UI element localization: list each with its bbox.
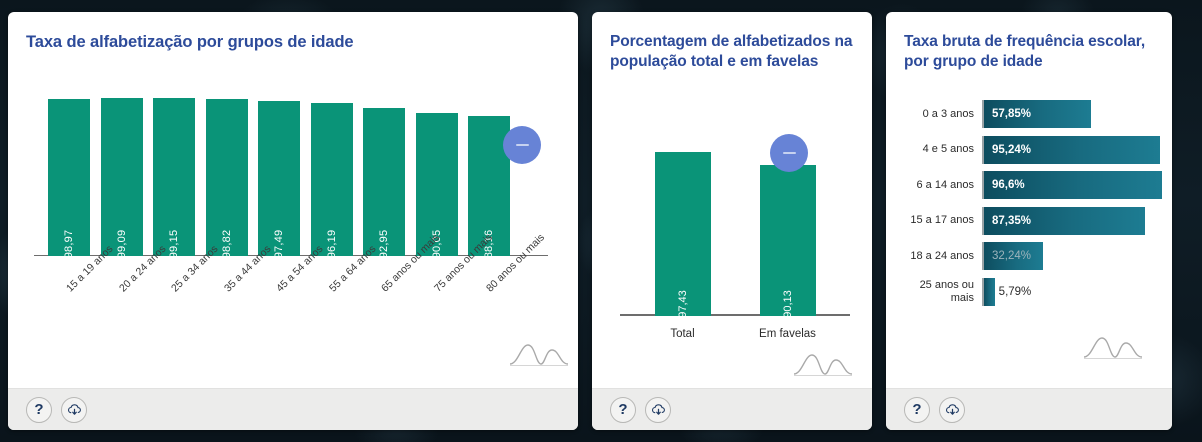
chart1-bar-5[interactable]: 96,19	[311, 103, 353, 256]
chart3-row-5[interactable]: 25 anos ou mais 5,79%	[894, 278, 1162, 306]
chart3-bar-5[interactable]	[984, 278, 995, 306]
chart1-bar-slot[interactable]: 99,15	[153, 82, 195, 256]
chart3-bar-3[interactable]: 87,35%	[984, 207, 1145, 235]
chart1-tick-8: 80 anos ou mais	[468, 282, 510, 352]
card-body-literacy-total-favelas: Porcentagem de alfabetizados na populaçã…	[592, 12, 872, 388]
chart1-tick-4: 45 a 54 anos	[258, 282, 300, 352]
download-button[interactable]	[645, 397, 671, 423]
chart1-value-4: 97,49	[273, 230, 285, 259]
distribution-curve-watermark	[792, 349, 854, 379]
chart3-track-2: 96,6%	[982, 171, 1162, 199]
minimize-badge[interactable]	[770, 134, 808, 172]
chart-literacy-by-age: 98,97 99,09 99,15	[34, 82, 548, 282]
chart1-bar-slot[interactable]: 98,97	[48, 82, 90, 256]
cloud-download-icon	[651, 403, 666, 417]
chart-school-attendance-rate: 0 a 3 anos 57,85% 4 e 5 anos 95,24%	[894, 100, 1162, 315]
chart3-bar-1[interactable]: 95,24%	[984, 136, 1160, 164]
question-mark-icon: ?	[912, 402, 921, 417]
distribution-curve-watermark	[508, 339, 570, 369]
chart1-bar-slot[interactable]: 92,95	[363, 82, 405, 256]
question-mark-icon: ?	[618, 402, 627, 417]
chart3-bar-0[interactable]: 57,85%	[984, 100, 1091, 128]
chart1-value-0: 98,97	[63, 230, 75, 259]
cloud-download-icon	[945, 403, 960, 417]
chart1-bar-2[interactable]: 99,15	[153, 98, 195, 256]
distribution-curve-watermark	[1082, 332, 1144, 362]
chart3-row-4[interactable]: 18 a 24 anos 32,24%	[894, 242, 1162, 270]
chart2-plot-area: 97,43 90,13	[630, 130, 840, 316]
chart1-bar-slot[interactable]: 97,49	[258, 82, 300, 256]
chart1-tick-7: 75 anos ou mais	[416, 282, 458, 352]
dashboard-board: Taxa de alfabetização por grupos de idad…	[0, 0, 1202, 442]
chart1-value-3: 98,82	[221, 230, 233, 259]
chart1-tick-2: 25 a 34 anos	[153, 282, 195, 352]
chart2-category-axis: Total Em favelas	[630, 328, 840, 340]
chart1-bar-6[interactable]: 92,95	[363, 108, 405, 256]
chart3-track-3: 87,35%	[982, 207, 1162, 235]
chart3-row-1[interactable]: 4 e 5 anos 95,24%	[894, 136, 1162, 164]
chart1-plot-area: 98,97 99,09 99,15	[48, 82, 510, 256]
chart3-category-label-2: 6 a 14 anos	[894, 179, 982, 192]
card-school-attendance-rate: Taxa bruta de frequência escolar, por gr…	[886, 12, 1172, 430]
card-literacy-by-age: Taxa de alfabetização por grupos de idad…	[8, 12, 578, 430]
chart3-value-4: 32,24%	[984, 250, 1031, 262]
chart1-category-axis: 15 a 19 anos 20 a 24 anos 25 a 34 anos 3…	[48, 282, 510, 352]
chart1-bar-1[interactable]: 99,09	[101, 98, 143, 256]
chart1-value-2: 99,15	[168, 230, 180, 259]
chart1-value-5: 96,19	[326, 230, 338, 259]
chart3-value-1: 95,24%	[984, 144, 1031, 156]
chart2-value-total: 97,43	[677, 290, 689, 318]
card-footer-school-attendance-rate: ?	[886, 388, 1172, 430]
chart3-track-0: 57,85%	[982, 100, 1162, 128]
chart-literacy-total-favelas: 97,43 90,13 Total Em favelas	[620, 130, 850, 350]
card-footer-literacy-total-favelas: ?	[592, 388, 872, 430]
download-button[interactable]	[939, 397, 965, 423]
chart3-row-2[interactable]: 6 a 14 anos 96,6%	[894, 171, 1162, 199]
chart1-value-6: 92,95	[378, 230, 390, 259]
chart3-value-3: 87,35%	[984, 215, 1031, 227]
chart1-bar-slot[interactable]: 98,82	[206, 82, 248, 256]
chart3-track-5: 5,79%	[982, 278, 1162, 306]
chart3-row-3[interactable]: 15 a 17 anos 87,35%	[894, 207, 1162, 235]
page-title: Taxa de alfabetização por grupos de idad…	[26, 32, 560, 54]
chart1-bar-slot[interactable]: 88,16	[468, 82, 510, 256]
download-button[interactable]	[61, 397, 87, 423]
chart3-row-0[interactable]: 0 a 3 anos 57,85%	[894, 100, 1162, 128]
chart3-track-1: 95,24%	[982, 136, 1162, 164]
chart1-value-1: 99,09	[116, 230, 128, 259]
help-button[interactable]: ?	[610, 397, 636, 423]
card-footer-literacy-by-age: ?	[8, 388, 578, 430]
chart3-value-2: 96,6%	[984, 179, 1025, 191]
chart1-tick-3: 35 a 44 anos	[206, 282, 248, 352]
help-button[interactable]: ?	[904, 397, 930, 423]
chart1-bar-3[interactable]: 98,82	[206, 99, 248, 256]
chart1-bar-slot[interactable]: 90,05	[416, 82, 458, 256]
chart2-tick-label-favelas: Em favelas	[743, 328, 833, 340]
chart2-bar-favelas[interactable]: 90,13	[760, 165, 816, 316]
chart3-track-4: 32,24%	[982, 242, 1162, 270]
chart3-value-5: 5,79%	[995, 286, 1032, 298]
chart1-tick-6: 65 anos ou mais	[363, 282, 405, 352]
chart1-tick-1: 20 a 24 anos	[101, 282, 143, 352]
chart2-value-favelas: 90,13	[782, 290, 794, 318]
chart1-tick-5: 55 a 64 anos	[311, 282, 353, 352]
chart1-tick-0: 15 a 19 anos	[48, 282, 90, 352]
chart2-tick-label-total: Total	[638, 328, 728, 340]
chart3-category-label-5: 25 anos ou mais	[894, 279, 982, 304]
chart3-value-0: 57,85%	[984, 108, 1031, 120]
chart3-category-label-4: 18 a 24 anos	[894, 250, 982, 263]
chart1-bar-slot[interactable]: 96,19	[311, 82, 353, 256]
card-body-school-attendance-rate: Taxa bruta de frequência escolar, por gr…	[886, 12, 1172, 388]
chart3-category-label-3: 15 a 17 anos	[894, 214, 982, 227]
chart3-category-label-1: 4 e 5 anos	[894, 143, 982, 156]
chart1-bar-4[interactable]: 97,49	[258, 101, 300, 256]
chart3-bar-4[interactable]: 32,24%	[984, 242, 1043, 270]
help-button[interactable]: ?	[26, 397, 52, 423]
page-title: Taxa bruta de frequência escolar, por gr…	[904, 32, 1154, 73]
card-body-literacy-by-age: Taxa de alfabetização por grupos de idad…	[8, 12, 578, 388]
card-literacy-total-favelas: Porcentagem de alfabetizados na populaçã…	[592, 12, 872, 430]
chart2-bar-total[interactable]: 97,43	[655, 152, 711, 316]
page-title: Porcentagem de alfabetizados na populaçã…	[610, 32, 854, 73]
chart3-category-label-0: 0 a 3 anos	[894, 108, 982, 121]
chart3-bar-2[interactable]: 96,6%	[984, 171, 1162, 199]
question-mark-icon: ?	[34, 402, 43, 417]
cloud-download-icon	[67, 403, 82, 417]
chart1-bar-0[interactable]: 98,97	[48, 99, 90, 256]
chart1-bar-slot[interactable]: 99,09	[101, 82, 143, 256]
minimize-badge[interactable]	[503, 126, 541, 164]
